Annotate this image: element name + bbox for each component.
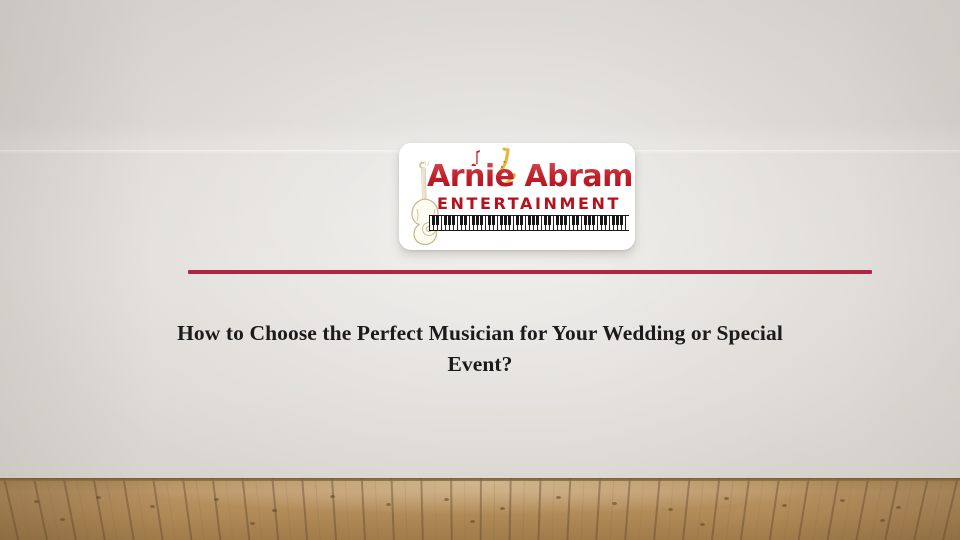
- floor-knot: [250, 522, 255, 525]
- floor-knot: [896, 506, 901, 509]
- piano-black-key: [480, 216, 483, 225]
- piano-black-key: [464, 216, 467, 225]
- piano-black-key: [516, 216, 519, 225]
- floor-knot: [724, 497, 729, 500]
- piano-black-key: [532, 216, 535, 225]
- piano-black-key: [616, 216, 619, 225]
- floor-knot: [880, 519, 885, 522]
- piano-black-key: [536, 216, 539, 225]
- brand-subtitle: ENTERTAINMENT: [429, 195, 629, 213]
- piano-black-key: [588, 216, 591, 225]
- floor-knot: [668, 508, 673, 511]
- piano-white-key: [513, 216, 514, 230]
- logo-content: Arnie Abrams ENTERTAINMENT: [399, 143, 635, 250]
- piano-white-key: [581, 216, 582, 230]
- piano-black-key: [600, 216, 603, 225]
- piano-white-key: [429, 216, 430, 230]
- piano-black-key: [528, 216, 531, 225]
- piano-black-key: [504, 216, 507, 225]
- piano-white-key: [569, 216, 570, 230]
- floor-knot: [330, 495, 335, 498]
- floor-knot: [612, 502, 617, 505]
- piano-white-key: [441, 216, 442, 230]
- piano-black-key: [564, 216, 567, 225]
- floor-knot: [96, 496, 101, 499]
- piano-black-key: [472, 216, 475, 225]
- piano-black-key: [560, 216, 563, 225]
- floor-knot: [700, 523, 705, 526]
- piano-black-key: [436, 216, 439, 225]
- piano-black-key: [604, 216, 607, 225]
- wood-floor: [0, 478, 960, 540]
- piano-white-key: [497, 216, 498, 230]
- floor-knot: [272, 509, 277, 512]
- piano-black-key: [556, 216, 559, 225]
- piano-white-key: [525, 216, 526, 230]
- piano-black-key: [620, 216, 623, 225]
- page-title-line-1: How to Choose the Perfect Musician for Y…: [177, 321, 711, 345]
- floor-knot: [214, 498, 219, 501]
- piano-black-key: [476, 216, 479, 225]
- piano-black-key: [572, 216, 575, 225]
- presentation-slide: Arnie Abrams ENTERTAINMENT How to Choose…: [0, 0, 960, 540]
- piano-black-key: [576, 216, 579, 225]
- piano-keyboard-icon: [429, 215, 629, 231]
- piano-white-key: [457, 216, 458, 230]
- floor-knot: [470, 520, 475, 523]
- piano-white-key: [469, 216, 470, 230]
- floor-knot: [782, 504, 787, 507]
- floor-knot: [444, 498, 449, 501]
- floor-knot: [60, 518, 65, 521]
- piano-black-key: [508, 216, 511, 225]
- floor-plank-seam: [480, 478, 482, 540]
- piano-black-key: [460, 216, 463, 225]
- piano-white-key: [625, 216, 626, 230]
- floor-plank-grain: [464, 478, 466, 540]
- piano-black-key: [544, 216, 547, 225]
- piano-black-key: [612, 216, 615, 225]
- floor-knot: [556, 496, 561, 499]
- piano-black-key: [432, 216, 435, 225]
- floor-plank-grain: [493, 478, 494, 540]
- piano-white-key: [609, 216, 610, 230]
- floor-baseboard-edge: [0, 478, 960, 481]
- floor-knot: [150, 505, 155, 508]
- piano-white-key: [597, 216, 598, 230]
- piano-white-key: [485, 216, 486, 230]
- floor-knot: [500, 507, 505, 510]
- floor-knot: [386, 503, 391, 506]
- piano-black-key: [492, 216, 495, 225]
- piano-black-key: [520, 216, 523, 225]
- piano-black-key: [488, 216, 491, 225]
- piano-black-key: [444, 216, 447, 225]
- piano-black-key: [584, 216, 587, 225]
- piano-black-key: [592, 216, 595, 225]
- piano-black-key: [452, 216, 455, 225]
- piano-black-key: [548, 216, 551, 225]
- piano-white-key: [553, 216, 554, 230]
- divider-line: [188, 270, 872, 274]
- brand-name: Arnie Abrams: [427, 161, 633, 193]
- page-title: How to Choose the Perfect Musician for Y…: [150, 318, 810, 380]
- floor-knot: [34, 500, 39, 503]
- piano-white-key: [541, 216, 542, 230]
- piano-black-key: [500, 216, 503, 225]
- logo-card[interactable]: Arnie Abrams ENTERTAINMENT: [399, 143, 635, 250]
- piano-black-key: [448, 216, 451, 225]
- floor-knot: [840, 499, 845, 502]
